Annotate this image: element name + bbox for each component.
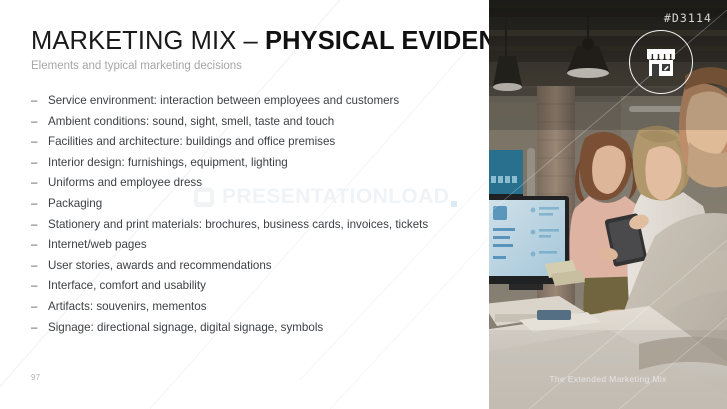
storefront-icon-badge bbox=[629, 30, 693, 94]
slide-id-tag: #D3114 bbox=[664, 11, 712, 25]
list-item-label: Packaging bbox=[48, 194, 102, 215]
bullet-dash-icon: – bbox=[31, 318, 47, 339]
list-item: – Internet/web pages bbox=[31, 235, 481, 256]
list-item-label: Uniforms and employee dress bbox=[48, 173, 202, 194]
bullet-dash-icon: – bbox=[31, 112, 47, 133]
list-item-label: Internet/web pages bbox=[48, 235, 147, 256]
slide-photo: #D3114 The Exten bbox=[489, 0, 727, 409]
list-item: – Facilities and architecture: buildings… bbox=[31, 132, 481, 153]
list-item-label: Artifacts: souvenirs, mementos bbox=[48, 297, 207, 318]
bullet-dash-icon: – bbox=[31, 153, 47, 174]
bullet-dash-icon: – bbox=[31, 297, 47, 318]
list-item: – Signage: directional signage, digital … bbox=[31, 318, 481, 339]
bullet-list: – Service environment: interaction betwe… bbox=[31, 91, 481, 338]
list-item: – Artifacts: souvenirs, mementos bbox=[31, 297, 481, 318]
list-item-label: Interior design: furnishings, equipment,… bbox=[48, 153, 288, 174]
list-item: – User stories, awards and recommendatio… bbox=[31, 256, 481, 277]
photo-caption: The Extended Marketing Mix bbox=[489, 374, 727, 384]
bullet-dash-icon: – bbox=[31, 276, 47, 297]
storefront-icon bbox=[645, 47, 677, 77]
list-item: – Ambient conditions: sound, sight, smel… bbox=[31, 112, 481, 133]
list-item-label: Service environment: interaction between… bbox=[48, 91, 399, 112]
list-item: – Uniforms and employee dress bbox=[31, 173, 481, 194]
list-item: – Service environment: interaction betwe… bbox=[31, 91, 481, 112]
list-item-label: User stories, awards and recommendations bbox=[48, 256, 272, 277]
bullet-dash-icon: – bbox=[31, 215, 47, 236]
bullet-dash-icon: – bbox=[31, 91, 47, 112]
list-item-label: Facilities and architecture: buildings a… bbox=[48, 132, 335, 153]
page-number: 97 bbox=[31, 373, 40, 382]
list-item: – Interior design: furnishings, equipmen… bbox=[31, 153, 481, 174]
list-item: – Packaging bbox=[31, 194, 481, 215]
bullet-dash-icon: – bbox=[31, 132, 47, 153]
list-item: – Stationery and print materials: brochu… bbox=[31, 215, 481, 236]
page-title: MARKETING MIX – PHYSICAL EVIDENCE bbox=[31, 26, 533, 56]
page-subtitle: Elements and typical marketing decisions bbox=[31, 59, 242, 74]
list-item: – Interface, comfort and usability bbox=[31, 276, 481, 297]
bullet-dash-icon: – bbox=[31, 194, 47, 215]
list-item-label: Interface, comfort and usability bbox=[48, 276, 206, 297]
list-item-label: Ambient conditions: sound, sight, smell,… bbox=[48, 112, 334, 133]
bullet-dash-icon: – bbox=[31, 256, 47, 277]
list-item-label: Signage: directional signage, digital si… bbox=[48, 318, 323, 339]
list-item-label: Stationery and print materials: brochure… bbox=[48, 215, 428, 236]
slide-content: MARKETING MIX – PHYSICAL EVIDENCE Elemen… bbox=[0, 0, 489, 409]
page-title-regular: MARKETING MIX – bbox=[31, 27, 265, 55]
slide-canvas: PRESENTATIONLOAD MARKETING MIX – PHYSICA… bbox=[0, 0, 727, 409]
bullet-dash-icon: – bbox=[31, 173, 47, 194]
bullet-dash-icon: – bbox=[31, 235, 47, 256]
